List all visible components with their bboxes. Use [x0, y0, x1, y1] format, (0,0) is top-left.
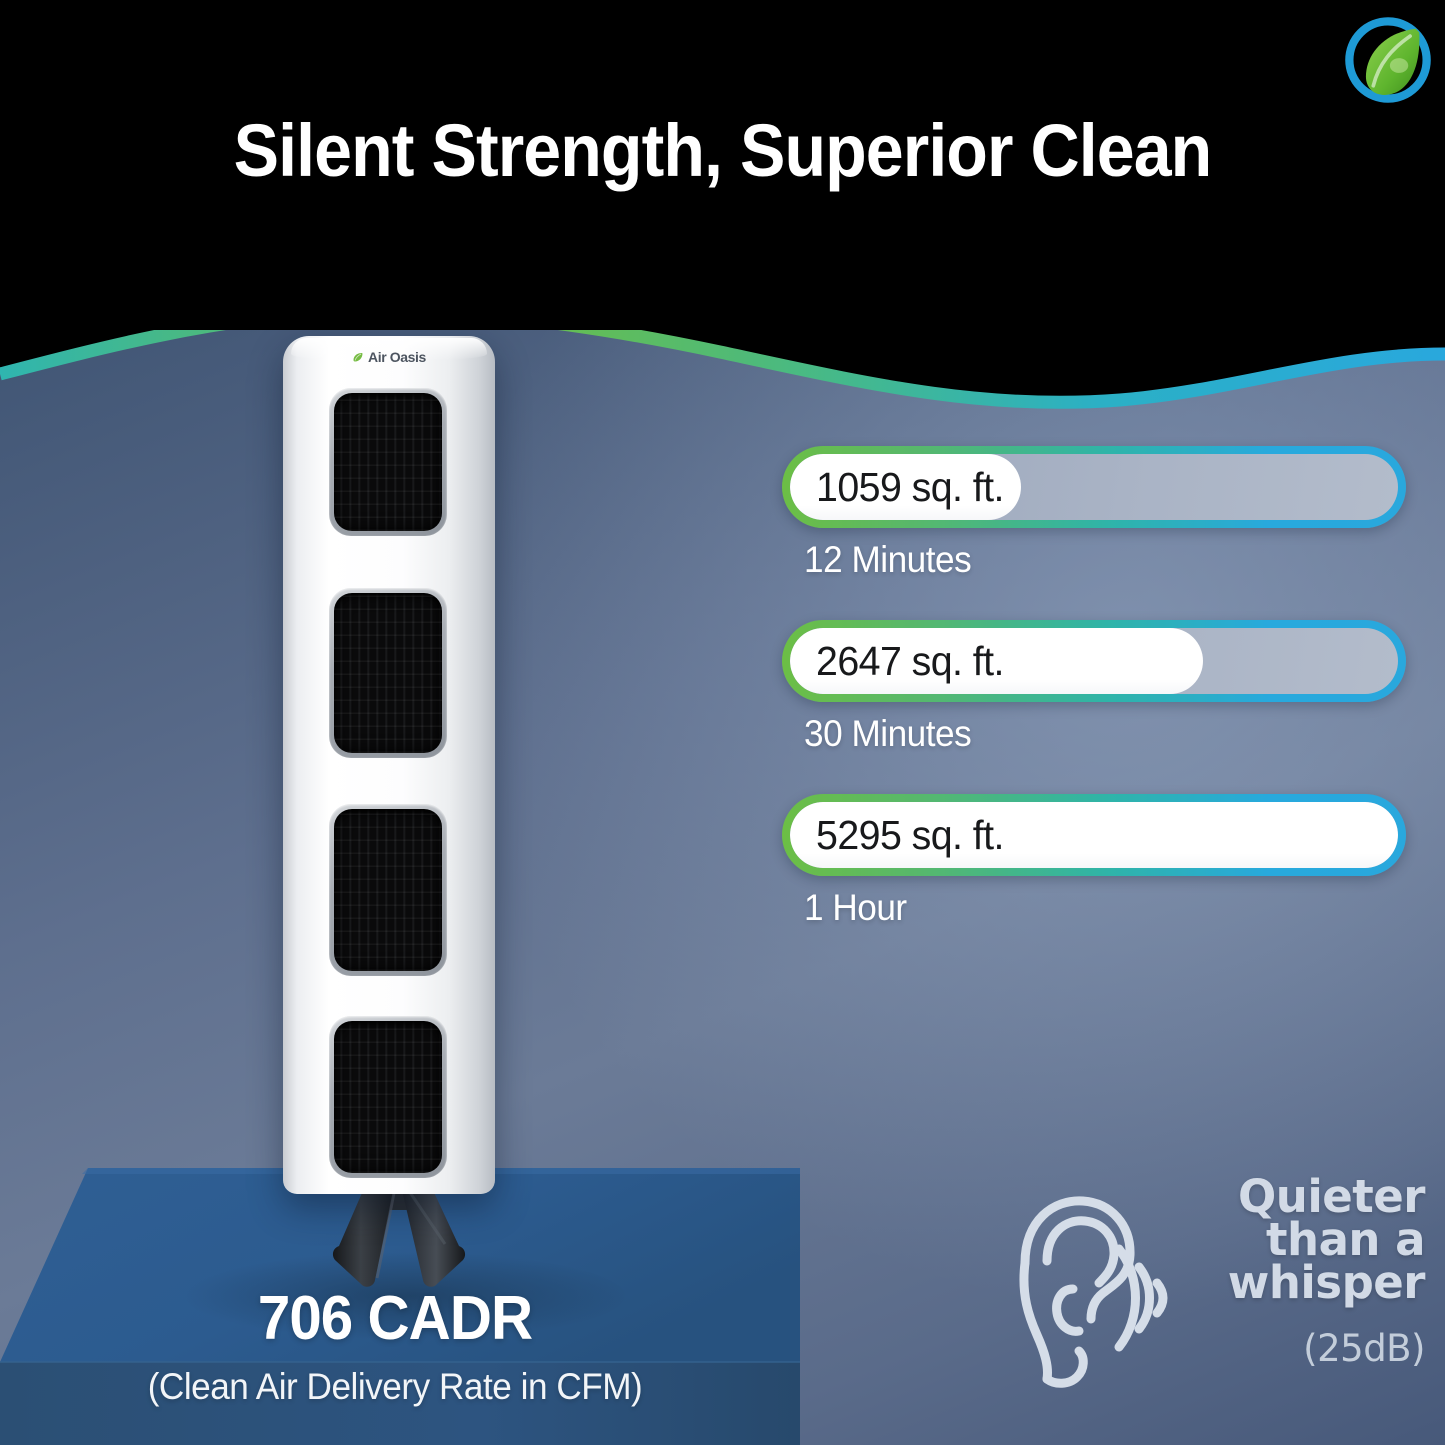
legs-shape — [267, 1184, 515, 1296]
stat-bar-group-2: 2647 sq. ft. 30 Minutes — [782, 620, 1406, 755]
quiet-line-1: Quieter — [1187, 1175, 1425, 1218]
progress-inner-2: 2647 sq. ft. — [790, 628, 1398, 694]
progress-track-1: 1059 sq. ft. — [782, 446, 1406, 528]
coverage-value-1: 1059 sq. ft. — [816, 454, 1004, 520]
vent-grill-2 — [334, 593, 442, 753]
purifier-body: Air Oasis — [283, 336, 495, 1194]
tripod-legs — [267, 1184, 515, 1296]
stat-bar-group-3: 5295 sq. ft. 1 Hour — [782, 794, 1406, 929]
header-band: Silent Strength, Superior Clean — [0, 0, 1445, 330]
infographic-canvas: Air Oasis 1059 sq. ft. — [0, 0, 1445, 1445]
vent-panel-1 — [329, 388, 447, 536]
vent-panel-4 — [329, 1016, 447, 1178]
progress-inner-1: 1059 sq. ft. — [790, 454, 1398, 520]
coverage-time-1: 12 Minutes — [804, 539, 1376, 581]
coverage-value-2: 2647 sq. ft. — [816, 628, 1004, 694]
coverage-value-3: 5295 sq. ft. — [816, 802, 1004, 868]
coverage-time-2: 30 Minutes — [804, 713, 1376, 755]
progress-track-2: 2647 sq. ft. — [782, 620, 1406, 702]
vent-panel-2 — [329, 588, 447, 758]
cadr-headline: 706 CADR — [24, 1283, 767, 1354]
vent-panel-3 — [329, 804, 447, 976]
quiet-decibels: (25dB) — [1187, 1327, 1425, 1370]
ear-with-soundwaves-icon — [995, 1185, 1180, 1395]
coverage-stat-bars: 1059 sq. ft. 12 Minutes 2647 sq. ft. 30 … — [782, 446, 1406, 929]
cadr-subtitle: (Clean Air Delivery Rate in CFM) — [20, 1366, 771, 1408]
leaf-in-circle-logo — [1342, 14, 1434, 106]
page-title: Silent Strength, Superior Clean — [58, 108, 1387, 193]
quiet-line-3: whisper — [1187, 1261, 1425, 1304]
vent-grill-3 — [334, 809, 442, 971]
vent-grill-1 — [334, 393, 442, 531]
quiet-text-block: Quieter than a whisper — [1187, 1175, 1425, 1305]
progress-inner-3: 5295 sq. ft. — [790, 802, 1398, 868]
quiet-line-2: than a — [1187, 1218, 1425, 1261]
progress-track-3: 5295 sq. ft. — [782, 794, 1406, 876]
stat-bar-group-1: 1059 sq. ft. 12 Minutes — [782, 446, 1406, 581]
air-purifier-product: Air Oasis — [283, 336, 495, 1206]
coverage-time-3: 1 Hour — [804, 887, 1376, 929]
quiet-callout: Quieter than a whisper (25dB) — [995, 1175, 1425, 1410]
vent-grill-4 — [334, 1021, 442, 1173]
